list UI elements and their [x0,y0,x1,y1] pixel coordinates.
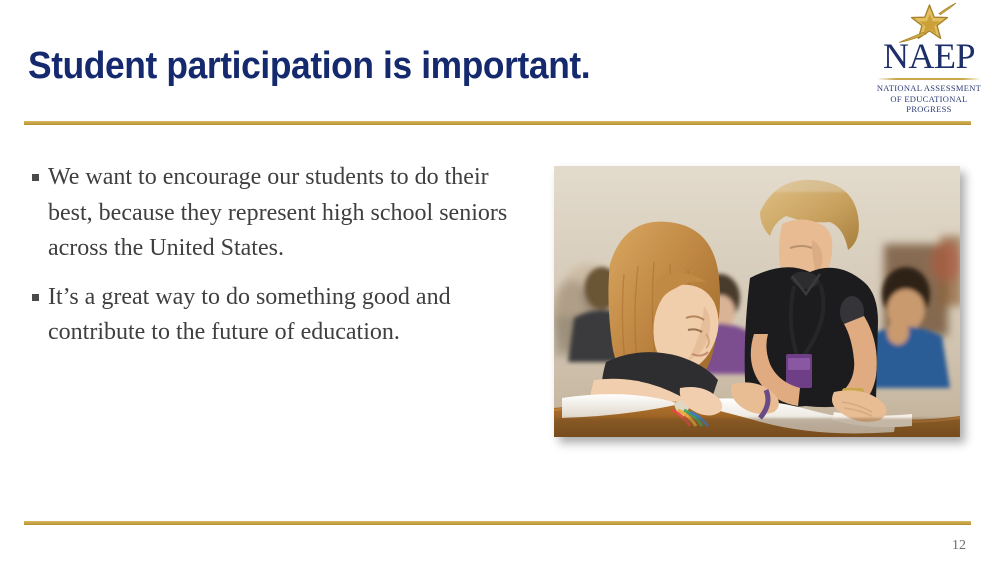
classroom-photo-artwork [554,166,960,437]
naep-tagline-line-2: OF EDUCATIONAL [866,94,992,105]
naep-tagline-line-1: NATIONAL ASSESSMENT [866,83,992,94]
slide: Student participation is important. NAEP… [0,0,1002,572]
list-item: It’s a great way to do something good an… [30,280,530,351]
classroom-photo-image [554,166,960,437]
classroom-photo [554,166,960,437]
bullet-list: We want to encourage our students to do … [30,160,530,364]
naep-logo: NAEP NATIONAL ASSESSMENT OF EDUCATIONAL … [866,2,992,114]
list-item: We want to encourage our students to do … [30,160,530,267]
naep-logo-rule [877,78,981,80]
page-number: 12 [952,538,966,554]
square-bullet-icon [32,294,39,301]
naep-wordmark: NAEP [866,38,992,74]
list-item-text: It’s a great way to do something good an… [48,284,451,346]
naep-tagline-line-3: PROGRESS [866,104,992,115]
title-divider-rule [24,121,971,125]
list-item-text: We want to encourage our students to do … [48,164,507,261]
square-bullet-icon [32,174,39,181]
footer-divider-rule [24,521,971,525]
page-title: Student participation is important. [28,44,679,88]
